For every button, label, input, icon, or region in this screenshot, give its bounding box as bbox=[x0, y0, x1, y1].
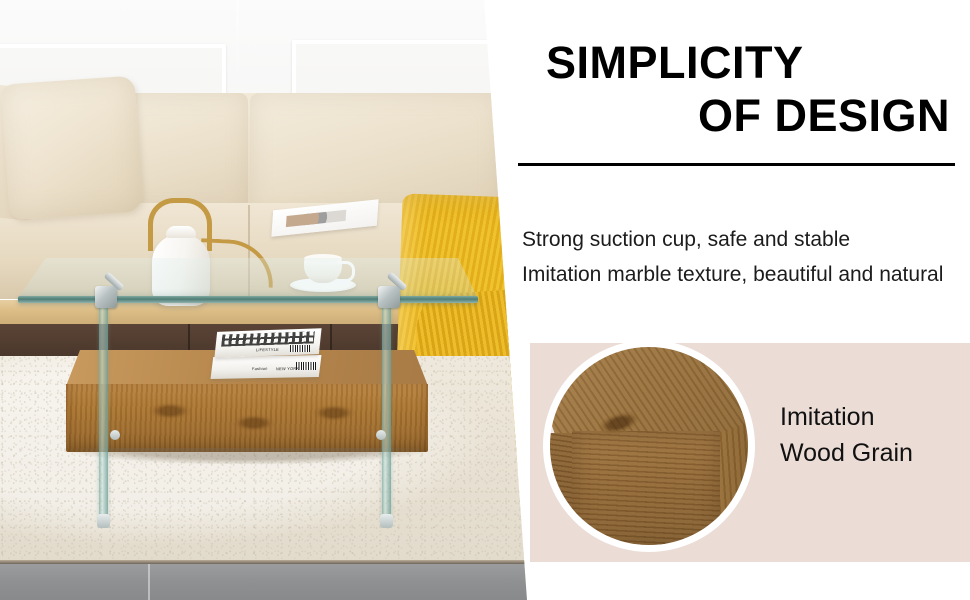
book-top-label: LIFESTYLE bbox=[256, 347, 280, 352]
product-feature-banner: Fashion NEW YORK LIFESTYLE bbox=[0, 0, 970, 600]
shelf-wood-knot-1 bbox=[148, 402, 192, 420]
detail-callout-panel: Imitation Wood Grain bbox=[530, 343, 970, 562]
suction-cup-right bbox=[376, 430, 386, 440]
glass-table-leg-right bbox=[382, 300, 391, 522]
headline-line-1: SIMPLICITY bbox=[518, 36, 958, 89]
headline-divider bbox=[518, 163, 955, 166]
chrome-bracket-right bbox=[378, 286, 400, 308]
wood-beam-front-face bbox=[572, 431, 720, 549]
wood-closeup-scene bbox=[550, 347, 748, 545]
magazine-print bbox=[286, 210, 346, 227]
caption-line-2: Wood Grain bbox=[780, 435, 970, 471]
page-title: SIMPLICITY OF DESIGN bbox=[518, 36, 958, 142]
living-room-glass-coffee-table-photo: Fashion NEW YORK LIFESTYLE bbox=[0, 0, 530, 600]
glass-leg-foot-right bbox=[380, 514, 393, 528]
feature-line-1: Strong suction cup, safe and stable bbox=[522, 222, 952, 257]
floor-grout-line bbox=[148, 564, 150, 600]
glass-table-top-edge bbox=[18, 296, 478, 303]
content-panel: SIMPLICITY OF DESIGN Strong suction cup,… bbox=[510, 0, 970, 600]
white-kettle-lid bbox=[166, 226, 196, 238]
glass-table-leg-left bbox=[99, 300, 108, 522]
concrete-floor bbox=[0, 564, 530, 600]
book-bottom-label: Fashion bbox=[252, 366, 268, 371]
headline-line-2: OF DESIGN bbox=[518, 89, 958, 142]
throw-pillow bbox=[0, 75, 143, 220]
detail-callout-caption: Imitation Wood Grain bbox=[780, 399, 970, 471]
shelf-wood-knot-3 bbox=[312, 404, 356, 422]
caption-line-1: Imitation bbox=[780, 399, 970, 435]
shelf-shadow bbox=[72, 448, 424, 464]
wood-grain-closeup-photo bbox=[543, 340, 755, 552]
glass-leg-foot-left bbox=[97, 514, 110, 528]
feature-description: Strong suction cup, safe and stable Imit… bbox=[522, 222, 952, 292]
suction-cup-left bbox=[110, 430, 120, 440]
photo-scene: Fashion NEW YORK LIFESTYLE bbox=[0, 0, 530, 600]
chrome-bracket-left bbox=[95, 286, 117, 308]
feature-line-2: Imitation marble texture, beautiful and … bbox=[522, 257, 952, 292]
book-bottom-sublabel: NEW YORK bbox=[276, 366, 300, 371]
shelf-wood-knot-2 bbox=[232, 414, 276, 432]
book-top-barcode bbox=[290, 345, 310, 352]
